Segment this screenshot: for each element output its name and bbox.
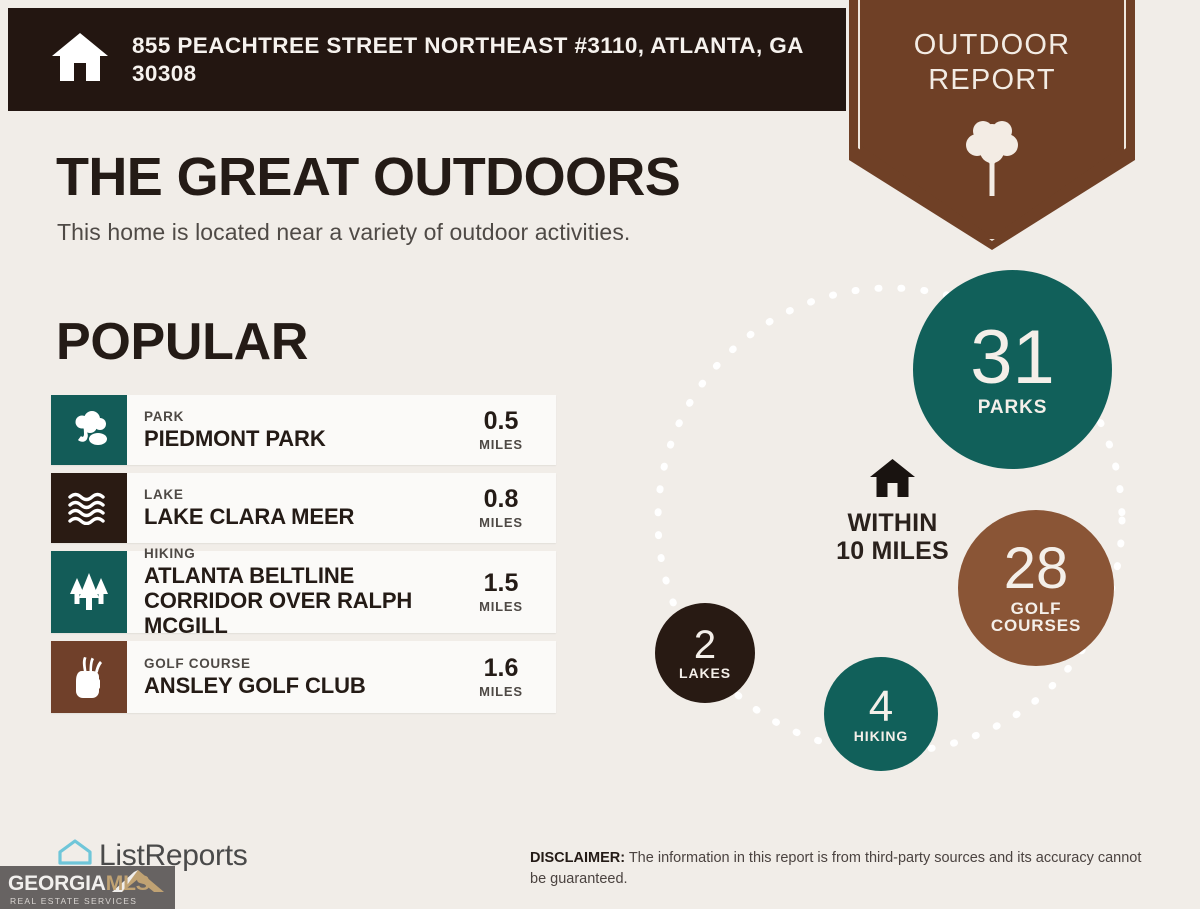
list-item-category: PARK [144, 409, 462, 426]
list-item-distance: 0.5 MILES [462, 395, 556, 465]
list-item-category: HIKING [144, 546, 462, 563]
list-item-text: LAKE LAKE CLARA MEER [127, 473, 462, 543]
outdoor-report-badge: OUTDOOR REPORT [849, 0, 1135, 250]
georgia-mls-watermark: GEORGIAMLS REAL ESTATE SERVICES [0, 866, 175, 909]
list-item-distance: 0.8 MILES [462, 473, 556, 543]
disclaimer: DISCLAIMER: The information in this repo… [530, 848, 1150, 890]
bubble-hiking-value: 4 [869, 685, 893, 728]
list-item-distance: 1.6 MILES [462, 641, 556, 713]
bubble-parks: 31 PARKS [913, 270, 1112, 469]
bubble-hiking: 4 HIKING [824, 657, 938, 771]
park-icon [51, 395, 127, 465]
page-subtitle: This home is located near a variety of o… [57, 219, 630, 246]
distance-value: 1.6 [484, 656, 519, 681]
popular-section-title: POPULAR [56, 312, 308, 372]
watermark-brand: GEORGIAMLS [8, 872, 150, 896]
list-item-category: LAKE [144, 487, 462, 504]
waves-icon [51, 473, 127, 543]
pine-trees-icon [51, 551, 127, 633]
bubble-parks-label: PARKS [978, 398, 1048, 418]
home-icon [869, 486, 916, 503]
disclaimer-label: DISCLAIMER: [530, 850, 625, 866]
list-item[interactable]: PARK PIEDMONT PARK 0.5 MILES [51, 395, 556, 465]
distance-value: 1.5 [484, 571, 519, 596]
watermark-tagline: REAL ESTATE SERVICES [10, 896, 137, 906]
watermark-brand-first: GEORGIA [8, 872, 106, 895]
bubble-hiking-label: HIKING [854, 729, 908, 744]
bubble-lakes-label: LAKES [679, 666, 731, 681]
property-address: 855 PEACHTREE STREET NORTHEAST #3110, AT… [132, 32, 832, 87]
outdoor-report-page: 855 PEACHTREE STREET NORTHEAST #3110, AT… [0, 0, 1200, 909]
list-item-name: LAKE CLARA MEER [144, 504, 462, 529]
distance-value: 0.8 [484, 487, 519, 512]
bubble-golf-label-line2: COURSES [991, 617, 1081, 635]
list-item-distance: 1.5 MILES [462, 551, 556, 633]
badge-title-line2: REPORT [849, 63, 1135, 98]
list-item[interactable]: GOLF COURSE ANSLEY GOLF CLUB 1.6 MILES [51, 641, 556, 713]
chart-center-line1: WITHIN [775, 509, 1010, 537]
distance-unit: MILES [479, 599, 523, 614]
list-item-text: PARK PIEDMONT PARK [127, 395, 462, 465]
home-icon [50, 31, 110, 88]
popular-list: PARK PIEDMONT PARK 0.5 MILES [51, 395, 556, 721]
bubble-lakes: 2 LAKES [655, 603, 755, 703]
tree-icon [849, 118, 1135, 203]
within-10-miles-bubble-chart: 31 PARKS 28 GOLF COURSES 2 LAKES 4 HIKIN… [600, 262, 1180, 802]
distance-unit: MILES [479, 684, 523, 699]
badge-title-line1: OUTDOOR [849, 28, 1135, 63]
list-item-text: GOLF COURSE ANSLEY GOLF CLUB [127, 641, 462, 713]
page-title: THE GREAT OUTDOORS [56, 146, 680, 208]
badge-title: OUTDOOR REPORT [849, 28, 1135, 99]
list-item-text: HIKING ATLANTA BELTLINE CORRIDOR OVER RA… [127, 551, 462, 633]
distance-value: 0.5 [484, 409, 519, 434]
list-item[interactable]: LAKE LAKE CLARA MEER 0.8 MILES [51, 473, 556, 543]
distance-unit: MILES [479, 515, 523, 530]
list-item-name: PIEDMONT PARK [144, 426, 462, 451]
bubble-lakes-value: 2 [694, 626, 716, 665]
bubble-parks-value: 31 [970, 321, 1055, 395]
bubble-golf-label: GOLF COURSES [991, 600, 1081, 636]
bubble-golf-value: 28 [1004, 541, 1069, 598]
chart-center-line2: 10 MILES [775, 537, 1010, 565]
list-item-name: ANSLEY GOLF CLUB [144, 673, 462, 698]
chart-center-label: WITHIN 10 MILES [775, 458, 1010, 565]
address-header-bar: 855 PEACHTREE STREET NORTHEAST #3110, AT… [8, 8, 846, 111]
watermark-brand-second: MLS [106, 872, 150, 895]
list-item-name: ATLANTA BELTLINE CORRIDOR OVER RALPH MCG… [144, 563, 462, 638]
list-item-category: GOLF COURSE [144, 656, 462, 673]
list-item[interactable]: HIKING ATLANTA BELTLINE CORRIDOR OVER RA… [51, 551, 556, 633]
bubble-golf-label-line1: GOLF [991, 600, 1081, 618]
distance-unit: MILES [479, 437, 523, 452]
golf-bag-icon [51, 641, 127, 713]
